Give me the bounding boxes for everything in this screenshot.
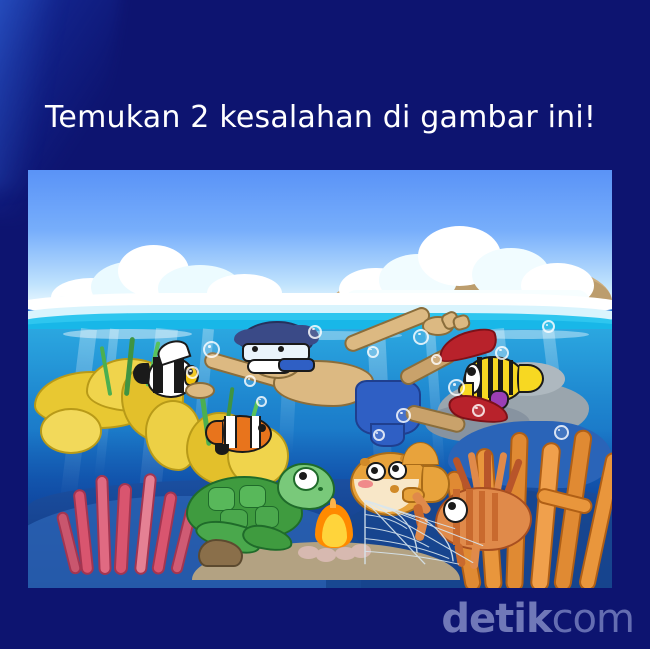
turtle-eye xyxy=(299,472,307,480)
fish-pupil xyxy=(371,467,378,474)
pink-coral xyxy=(63,471,203,571)
corner-glow-decoration-secondary xyxy=(0,0,60,190)
pink-coral-arm xyxy=(95,475,111,576)
bubble xyxy=(495,346,509,360)
bubble xyxy=(373,429,385,441)
turtle-shell-scute xyxy=(239,485,266,509)
watermark-light-text: com xyxy=(552,596,634,642)
bubble xyxy=(367,346,379,358)
boy-left-hand xyxy=(185,382,215,399)
detikcom-watermark: detikcom xyxy=(441,597,634,641)
fish-tail xyxy=(517,364,544,393)
pink-coral-arm xyxy=(114,483,133,576)
bubble xyxy=(472,404,485,417)
bubble xyxy=(244,375,256,387)
bubble xyxy=(554,425,569,440)
bubble xyxy=(256,396,267,407)
boy-snorkel-tube xyxy=(278,358,315,372)
page-title: Temukan 2 kesalahan di gambar ini! xyxy=(45,100,605,136)
fish-stripe xyxy=(174,357,185,393)
fish-spot xyxy=(390,485,399,493)
turtle-shell-scute xyxy=(208,487,235,511)
campfire-flame-tip xyxy=(330,498,336,509)
campfire-stone xyxy=(316,548,336,561)
fish-spot xyxy=(360,458,369,466)
yellow-coral xyxy=(40,408,102,454)
page-root: Temukan 2 kesalahan di gambar ini! xyxy=(0,0,650,649)
illustration-image xyxy=(28,170,612,588)
fish-mouth xyxy=(358,480,373,488)
fish-tail xyxy=(205,420,224,445)
fish-tail xyxy=(133,363,150,384)
watermark-bold-text: detik xyxy=(441,596,551,642)
turtle-nostril xyxy=(318,487,323,491)
fish-stripe xyxy=(509,360,513,396)
lionfish-spine xyxy=(504,458,523,495)
snorkeling-boy xyxy=(227,312,484,454)
bubble xyxy=(431,354,442,365)
spider-web-underwater-error xyxy=(355,496,495,567)
bubble xyxy=(308,325,322,339)
turtle-eye-white xyxy=(293,467,319,491)
